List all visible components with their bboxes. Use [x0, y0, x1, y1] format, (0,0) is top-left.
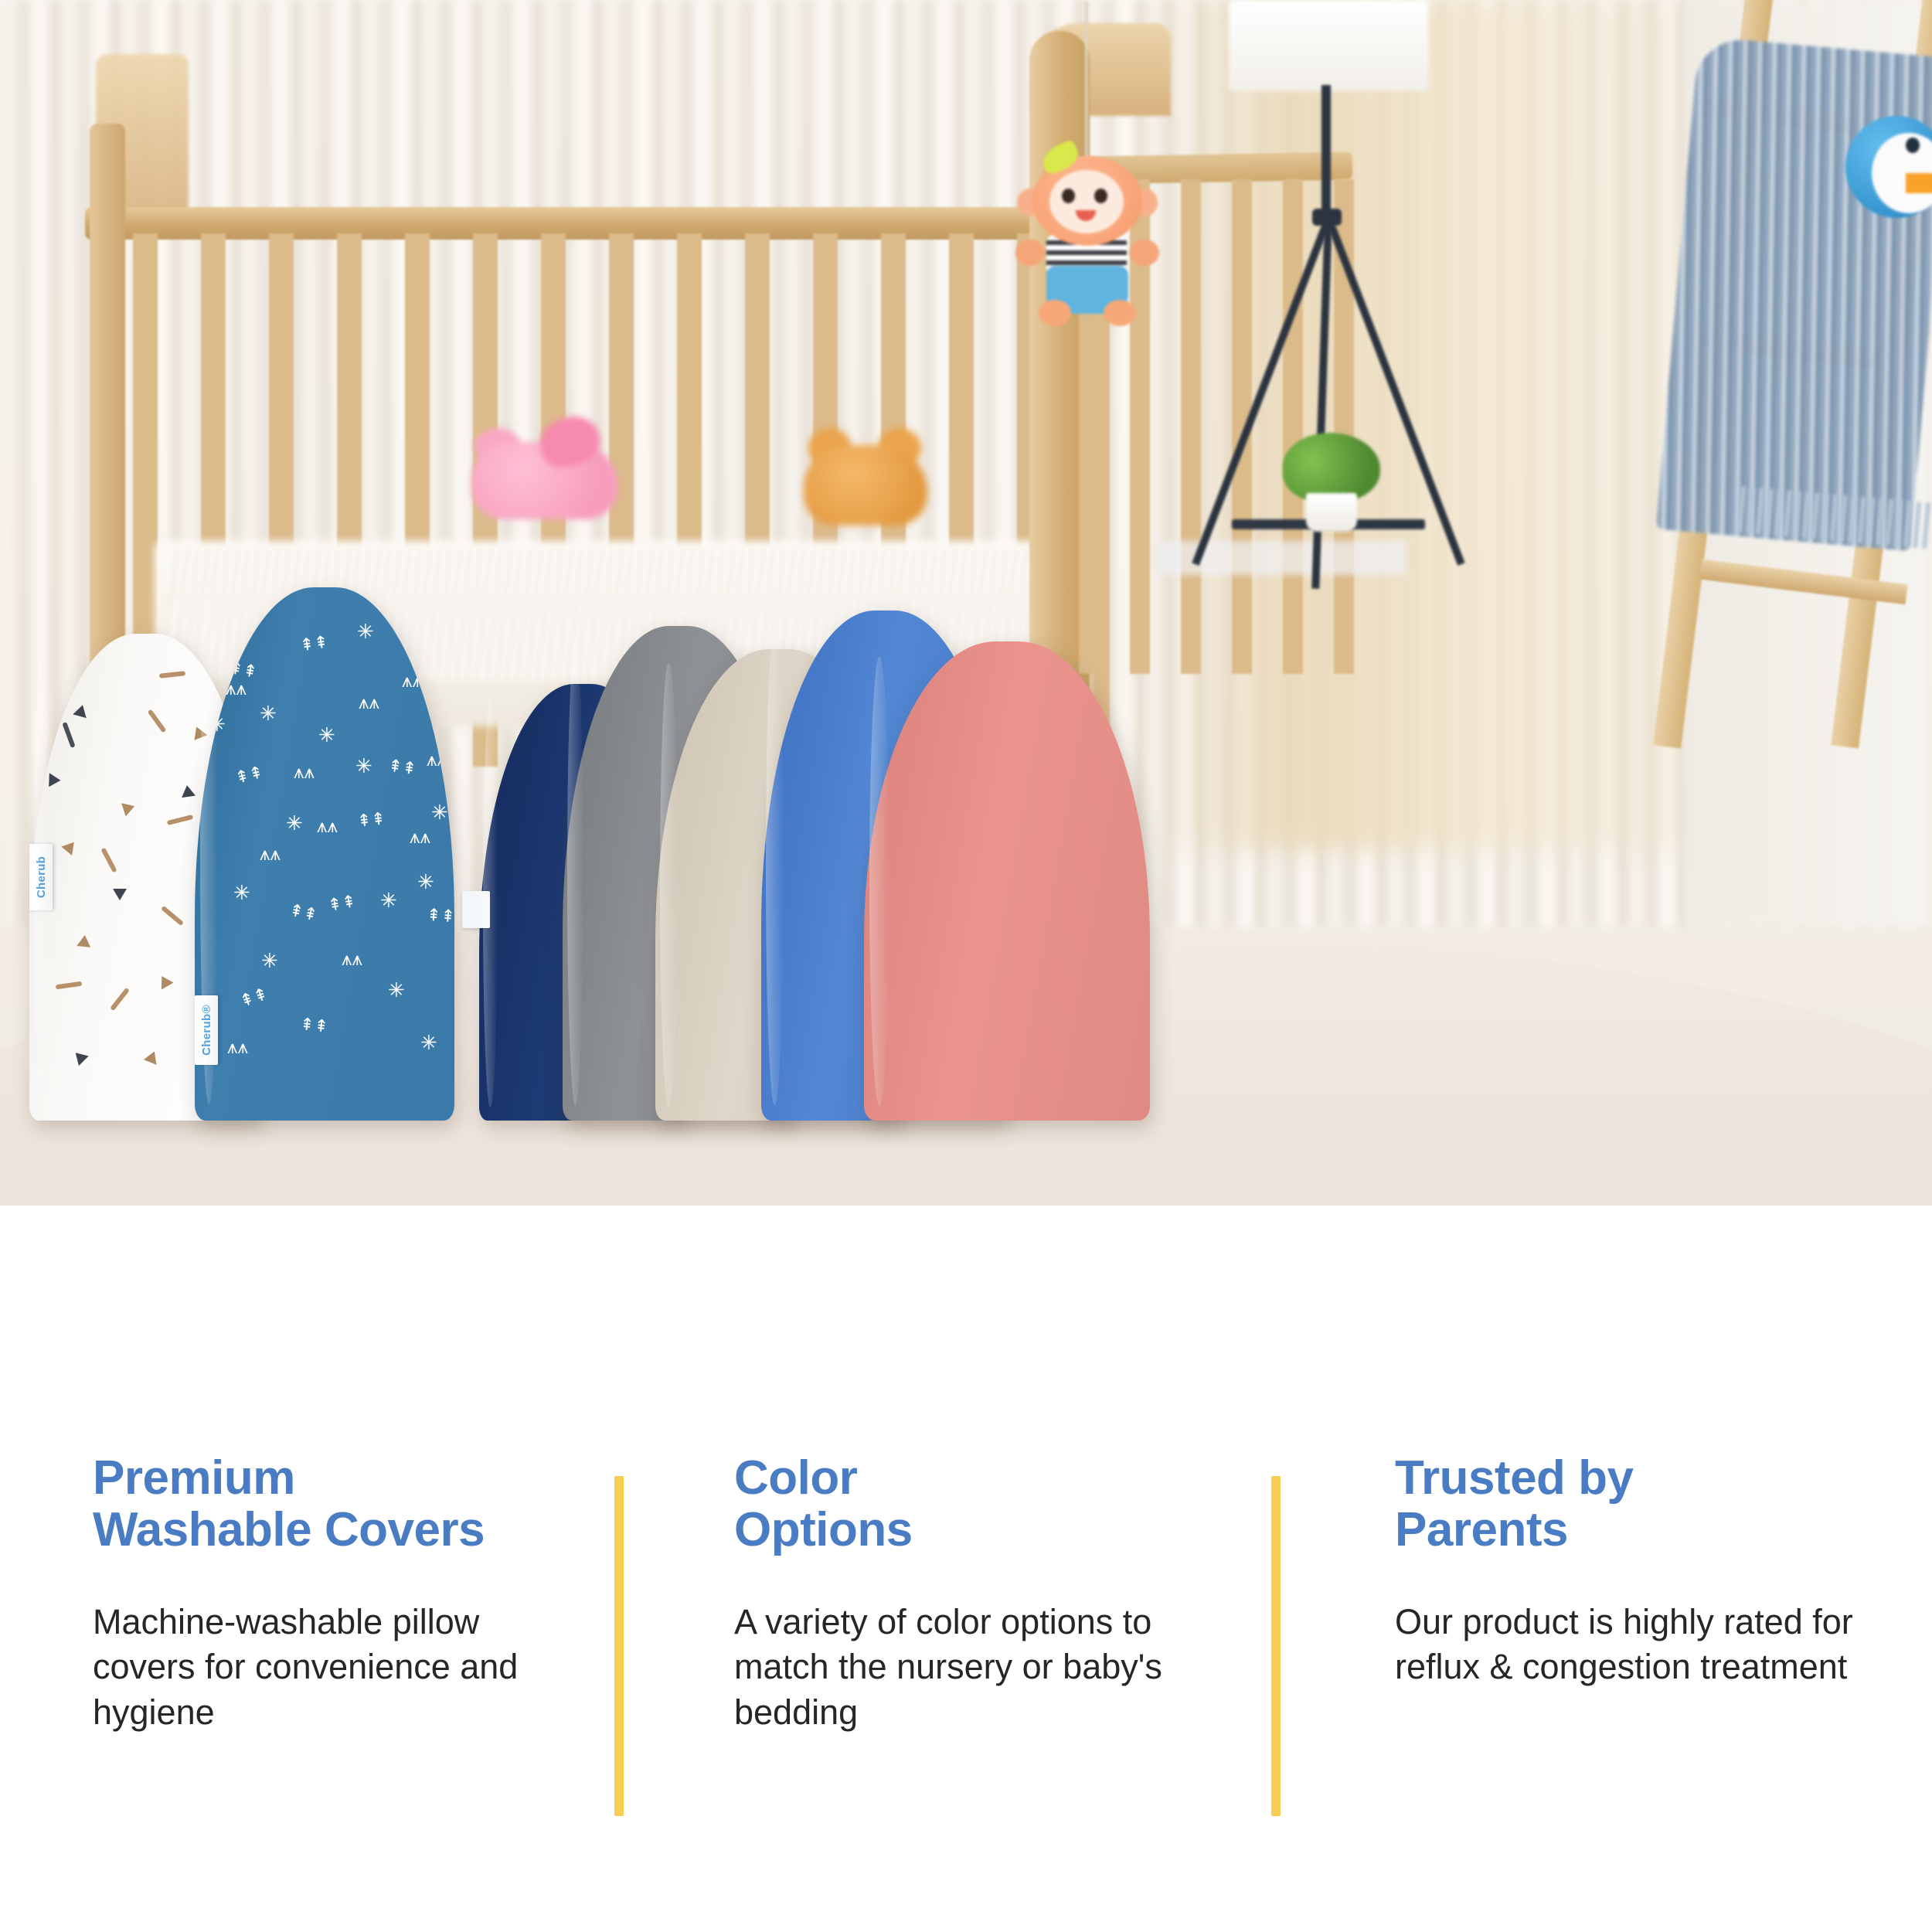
feature-body-2: A variety of color options to match the … [734, 1600, 1248, 1736]
feature-column-3: Trusted by Parents Our product is highly… [1279, 1453, 1932, 1886]
feature-column-2: Color Options A variety of color options… [618, 1453, 1279, 1886]
brand-tag-white-pillow: Cherub [29, 844, 53, 910]
hero-product-photo: Cherub ⇞⇞ ⇞⇞ ✳ ✳ ✳ ⇞⇞ ⩚⩚ ⩚⩚ ⩚⩚ ✳ [0, 0, 1932, 1314]
product-feature-card: Cherub ⇞⇞ ⇞⇞ ✳ ✳ ✳ ⇞⇞ ⩚⩚ ⩚⩚ ⩚⩚ ✳ [0, 0, 1932, 1932]
feature-columns: Premium Washable Covers Machine-washable… [0, 1453, 1932, 1886]
feature-column-1: Premium Washable Covers Machine-washable… [0, 1453, 618, 1886]
nursery-scene: Cherub ⇞⇞ ⇞⇞ ✳ ✳ ✳ ⇞⇞ ⩚⩚ ⩚⩚ ⩚⩚ ✳ [0, 0, 1932, 1206]
pillow-blue-star-print: ⇞⇞ ⇞⇞ ✳ ✳ ✳ ⇞⇞ ⩚⩚ ⩚⩚ ⩚⩚ ✳ ✳ ✳ ⩚⩚ ⇞⇞ [195, 587, 454, 1121]
feature-heading-1: Premium Washable Covers [93, 1453, 587, 1556]
feature-heading-2: Color Options [734, 1453, 1248, 1556]
pillow-lineup: Cherub ⇞⇞ ⇞⇞ ✳ ✳ ✳ ⇞⇞ ⩚⩚ ⩚⩚ ⩚⩚ ✳ [0, 0, 1932, 1121]
feature-heading-3: Trusted by Parents [1395, 1453, 1901, 1556]
feature-body-3: Our product is highly rated for reflux &… [1395, 1600, 1901, 1690]
care-tag-navy-pillow [462, 891, 490, 928]
brand-tag-blue-pillow: Cherub® [195, 995, 218, 1065]
feature-body-1: Machine-washable pillow covers for conve… [93, 1600, 587, 1736]
